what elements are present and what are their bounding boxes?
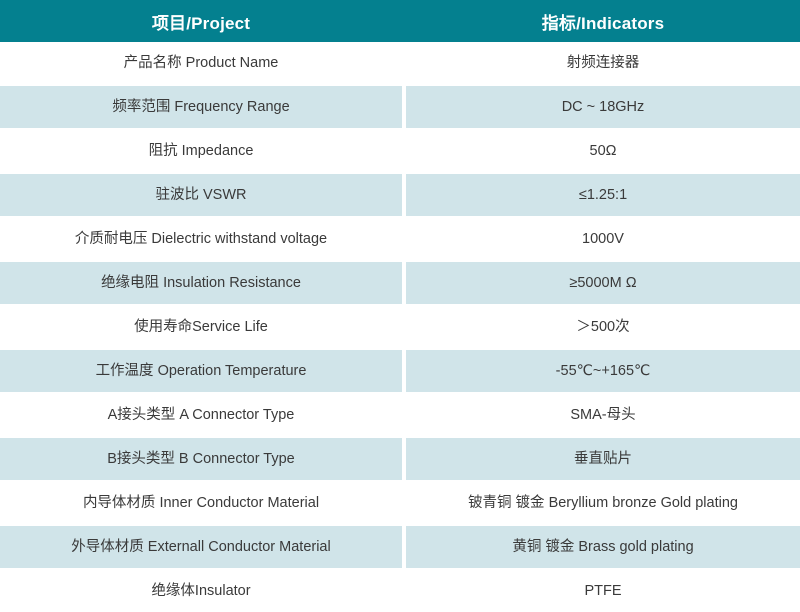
cell-project: 工作温度 Operation Temperature bbox=[0, 350, 402, 392]
table-row: 介质耐电压 Dielectric withstand voltage1000V bbox=[0, 218, 800, 260]
table-row: 外导体材质 Externall Conductor Material黄铜 镀金 … bbox=[0, 526, 800, 568]
cell-indicator: 铍青铜 镀金 Beryllium bronze Gold plating bbox=[406, 482, 800, 524]
cell-project: 阻抗 Impedance bbox=[0, 130, 402, 172]
cell-project: 外导体材质 Externall Conductor Material bbox=[0, 526, 402, 568]
table-row: 工作温度 Operation Temperature-55℃~+165℃ bbox=[0, 350, 800, 392]
cell-indicator: -55℃~+165℃ bbox=[406, 350, 800, 392]
cell-project: 产品名称 Product Name bbox=[0, 42, 402, 84]
cell-project: B接头类型 B Connector Type bbox=[0, 438, 402, 480]
cell-project: 绝缘体Insulator bbox=[0, 570, 402, 612]
cell-project: 驻波比 VSWR bbox=[0, 174, 402, 216]
cell-indicator: 射频连接器 bbox=[406, 42, 800, 84]
cell-indicator: ≤1.25:1 bbox=[406, 174, 800, 216]
table-row: A接头类型 A Connector TypeSMA-母头 bbox=[0, 394, 800, 436]
cell-project: 绝缘电阻 Insulation Resistance bbox=[0, 262, 402, 304]
cell-project: 内导体材质 Inner Conductor Material bbox=[0, 482, 402, 524]
table-row: 阻抗 Impedance50Ω bbox=[0, 130, 800, 172]
table-header: 项目/Project 指标/Indicators bbox=[0, 0, 800, 42]
cell-project: A接头类型 A Connector Type bbox=[0, 394, 402, 436]
specification-table: 项目/Project 指标/Indicators 产品名称 Product Na… bbox=[0, 0, 800, 612]
table-row: 绝缘电阻 Insulation Resistance≥5000M Ω bbox=[0, 262, 800, 304]
table-row: 使用寿命Service Life＞500次 bbox=[0, 306, 800, 348]
cell-indicator: ≥5000M Ω bbox=[406, 262, 800, 304]
header-row: 项目/Project 指标/Indicators bbox=[0, 0, 800, 42]
cell-indicator: 垂直贴片 bbox=[406, 438, 800, 480]
cell-indicator: 1000V bbox=[406, 218, 800, 260]
cell-indicator: 黄铜 镀金 Brass gold plating bbox=[406, 526, 800, 568]
table-row: 频率范围 Frequency RangeDC ~ 18GHz bbox=[0, 86, 800, 128]
cell-project: 频率范围 Frequency Range bbox=[0, 86, 402, 128]
cell-project: 使用寿命Service Life bbox=[0, 306, 402, 348]
cell-indicator: 50Ω bbox=[406, 130, 800, 172]
table-row: 产品名称 Product Name射频连接器 bbox=[0, 42, 800, 84]
table-row: 驻波比 VSWR≤1.25:1 bbox=[0, 174, 800, 216]
cell-indicator: ＞500次 bbox=[406, 306, 800, 348]
cell-indicator: PTFE bbox=[406, 570, 800, 612]
table-body: 产品名称 Product Name射频连接器频率范围 Frequency Ran… bbox=[0, 42, 800, 612]
cell-project: 介质耐电压 Dielectric withstand voltage bbox=[0, 218, 402, 260]
table-row: 绝缘体InsulatorPTFE bbox=[0, 570, 800, 612]
column-header-project: 项目/Project bbox=[0, 0, 402, 42]
cell-indicator: SMA-母头 bbox=[406, 394, 800, 436]
table-row: B接头类型 B Connector Type垂直贴片 bbox=[0, 438, 800, 480]
table-row: 内导体材质 Inner Conductor Material铍青铜 镀金 Ber… bbox=[0, 482, 800, 524]
cell-indicator: DC ~ 18GHz bbox=[406, 86, 800, 128]
column-header-indicators: 指标/Indicators bbox=[406, 0, 800, 42]
